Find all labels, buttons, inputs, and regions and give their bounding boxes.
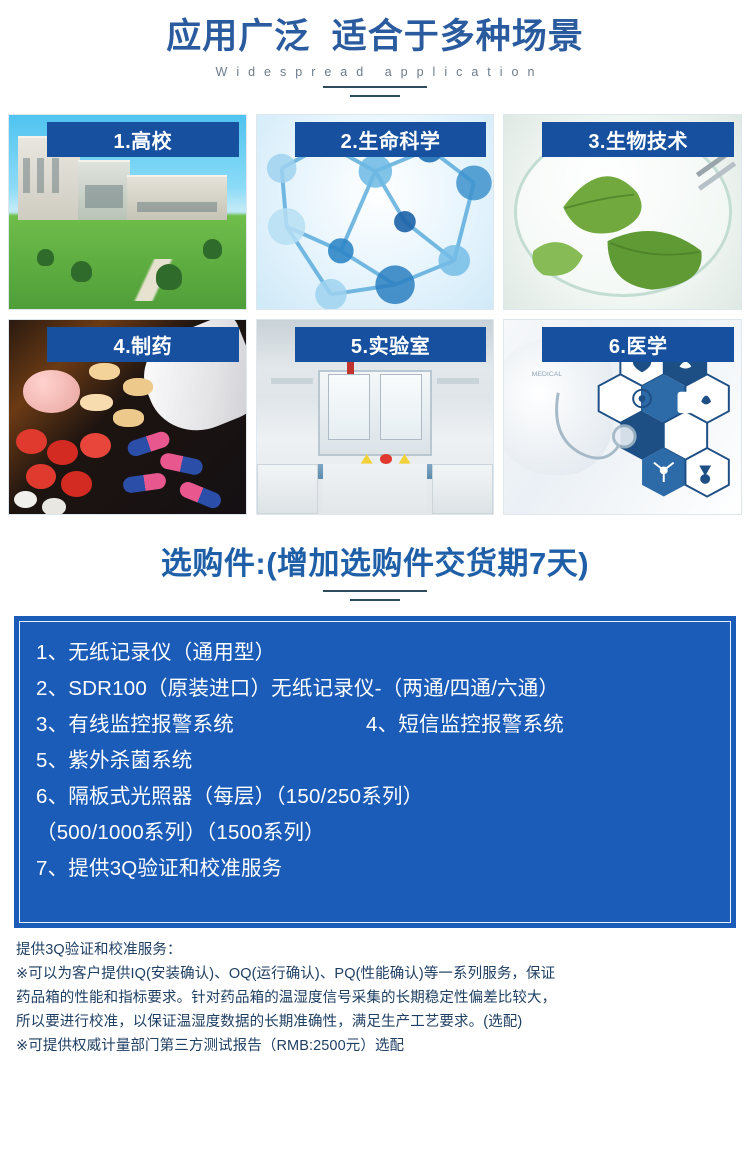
option-item-1: 1、无纸记录仪（通用型）: [36, 636, 714, 670]
option-item-2: 2、SDR100（原装进口）无纸记录仪-（两通/四通/六通）: [36, 672, 714, 706]
option-item-row-3-4: 3、有线监控报警系统 4、短信监控报警系统: [36, 708, 714, 742]
gallery-card-medical[interactable]: MEDICAL 6.医学: [503, 319, 742, 515]
gallery-card-label: 5.实验室: [295, 327, 487, 362]
options-section-header: 选购件:(增加选购件交货期7天): [0, 538, 750, 601]
gallery-card-label: 2.生命科学: [295, 122, 487, 157]
option-item-6-continued: （500/1000系列）（1500系列）: [36, 816, 714, 850]
gallery-card-label: 4.制药: [47, 327, 239, 362]
option-item-5: 5、紫外杀菌系统: [36, 744, 714, 778]
divider-short-line: [350, 599, 400, 601]
option-item-6: 6、隔板式光照器（每层）（150/250系列）: [36, 780, 714, 814]
footer-line-2: ※可以为客户提供IQ(安装确认)、OQ(运行确认)、PQ(性能确认)等一系列服务…: [16, 962, 734, 986]
option-item-7: 7、提供3Q验证和校准服务: [36, 852, 714, 886]
promo-page: 应用广泛 适合于多种场景 Widespread application: [0, 0, 750, 1175]
divider-long-line: [323, 86, 427, 88]
footer-line-3: 药品箱的性能和指标要求。针对药品箱的温湿度信号采集的长期稳定性偏差比较大，: [16, 986, 734, 1010]
divider-short-line: [350, 95, 400, 97]
gallery-card-biotechnology[interactable]: 3.生物技术: [503, 114, 742, 310]
gallery-card-laboratory[interactable]: 5.实验室: [256, 319, 495, 515]
header-divider: [0, 86, 750, 97]
gallery-card-label: 1.高校: [47, 122, 239, 157]
divider-long-line: [323, 590, 427, 592]
gallery-card-university[interactable]: 1.高校: [8, 114, 247, 310]
options-list-inner: 1、无纸记录仪（通用型） 2、SDR100（原装进口）无纸记录仪-（两通/四通/…: [19, 621, 731, 923]
gallery-card-life-science[interactable]: 2.生命科学: [256, 114, 495, 310]
footer-line-1: 提供3Q验证和校准服务：: [16, 938, 734, 962]
option-item-3: 3、有线监控报警系统: [36, 708, 366, 742]
application-gallery: 1.高校: [0, 114, 750, 515]
page-header: 应用广泛 适合于多种场景 Widespread application: [0, 0, 750, 97]
option-item-4: 4、短信监控报警系统: [366, 708, 564, 742]
options-list-box: 1、无纸记录仪（通用型） 2、SDR100（原装进口）无纸记录仪-（两通/四通/…: [14, 616, 736, 928]
svg-text:MEDICAL: MEDICAL: [532, 371, 563, 378]
footer-line-4: 所以要进行校准，以保证温湿度数据的长期准确性，满足生产工艺要求。(选配): [16, 1010, 734, 1034]
section-divider: [0, 590, 750, 601]
gallery-card-pharmaceutical[interactable]: 4.制药: [8, 319, 247, 515]
gallery-card-label: 3.生物技术: [542, 122, 734, 157]
gallery-card-label: 6.医学: [542, 327, 734, 362]
footer-line-5: ※可提供权威计量部门第三方测试报告（RMB:2500元）选配: [16, 1034, 734, 1058]
page-title: 应用广泛 适合于多种场景: [0, 14, 750, 60]
page-subtitle: Widespread application: [0, 65, 750, 79]
options-section-title: 选购件:(增加选购件交货期7天): [0, 538, 750, 583]
footer-notes: 提供3Q验证和校准服务： ※可以为客户提供IQ(安装确认)、OQ(运行确认)、P…: [16, 938, 734, 1058]
